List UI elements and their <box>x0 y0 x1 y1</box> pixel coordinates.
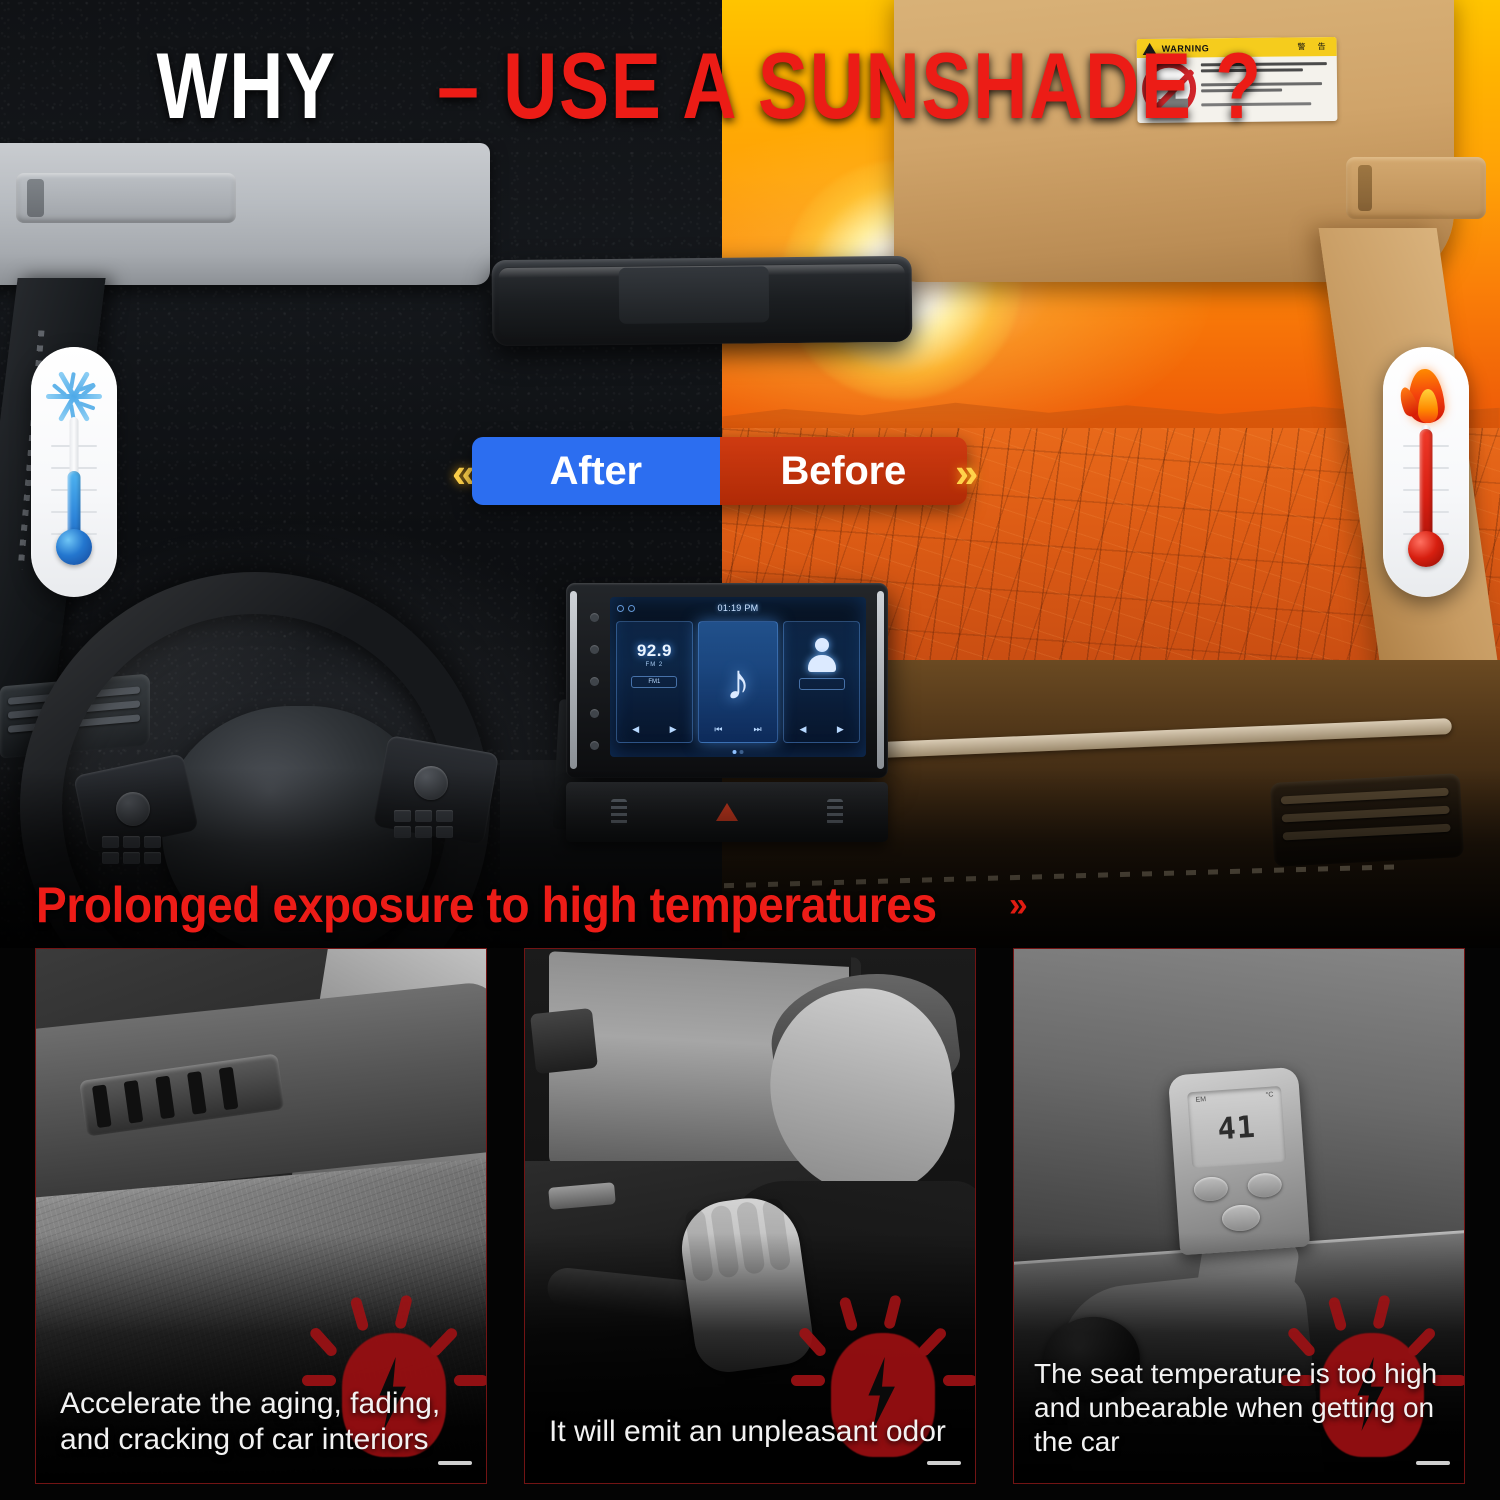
panel-interior-aging: Accelerate the aging, fading, and cracki… <box>35 948 487 1484</box>
screen-status-icons <box>617 605 635 612</box>
infotainment-screen[interactable]: 01:19 PM 92.9 FM 2 FM1 ◀ ▶ ♪ <box>610 597 866 757</box>
warning-label-text-lines <box>1201 60 1333 118</box>
child-seat-glyph <box>1158 82 1188 108</box>
phone-card[interactable]: ◀ ▶ <box>783 621 860 743</box>
panel-unpleasant-odor: It will emit an unpleasant odor <box>524 948 976 1484</box>
ir-thermometer-display: EM °C 41 <box>1187 1086 1286 1168</box>
head-unit-side-buttons[interactable] <box>583 601 605 761</box>
warning-label-header: WARNING 警 告 <box>1137 37 1337 58</box>
rearview-mirror-stem <box>196 84 222 106</box>
screen-status-bar: 01:19 PM <box>610 601 866 615</box>
radio-preset[interactable]: FM1 <box>631 676 677 688</box>
thermometer-bulb-hot <box>1408 531 1444 567</box>
panel-2-caption: It will emit an unpleasant odor <box>549 1414 959 1451</box>
radio-frequency: 92.9 <box>637 641 672 661</box>
before-after-badge: After Before <box>472 437 967 505</box>
rearview-mirror <box>492 256 913 346</box>
music-note-icon: ♪ <box>725 657 750 707</box>
benefit-panels-row: Accelerate the aging, fading, and cracki… <box>0 948 1500 1500</box>
ir-button-left[interactable] <box>1193 1176 1229 1202</box>
phone-prev-icon[interactable]: ◀ <box>799 724 806 735</box>
infotainment-head-unit: 01:19 PM 92.9 FM 2 FM1 ◀ ▶ ♪ <box>566 583 888 778</box>
screen-clock: 01:19 PM <box>718 603 759 613</box>
ir-display-mode-label: EM <box>1195 1096 1206 1104</box>
next-track-icon[interactable]: ⏭ <box>754 724 762 735</box>
thermometer-cool <box>31 347 117 597</box>
warning-triangle-icon <box>1143 42 1157 54</box>
radio-seek-controls[interactable]: ◀ ▶ <box>617 724 692 735</box>
screen-card-row: 92.9 FM 2 FM1 ◀ ▶ ♪ ⏮ ⏭ <box>616 621 860 743</box>
visor-pocket <box>16 173 236 223</box>
media-transport-controls[interactable]: ⏮ ⏭ <box>699 724 777 735</box>
previous-track-icon[interactable]: ⏮ <box>714 724 722 735</box>
before-badge-half[interactable]: Before <box>720 437 968 505</box>
bluetooth-icon <box>617 605 624 612</box>
media-card[interactable]: ♪ ⏮ ⏭ <box>698 621 778 743</box>
panel-3-ir-thermometer: EM °C 41 <box>1168 1067 1310 1256</box>
panel-3-dash-mark <box>1416 1461 1450 1465</box>
seek-next-icon[interactable]: ▶ <box>670 724 677 735</box>
radio-card[interactable]: 92.9 FM 2 FM1 ◀ ▶ <box>616 621 693 743</box>
subheadline-text: Prolonged exposure to high temperatures <box>36 876 937 934</box>
seek-prev-icon[interactable]: ◀ <box>632 724 639 735</box>
no-child-seat-icon <box>1142 61 1197 116</box>
chevron-right-icon: » <box>955 452 978 494</box>
warning-label-cjk-marks: 警 告 <box>1297 41 1330 52</box>
person-icon <box>807 638 837 672</box>
panel-2-dash-mark <box>927 1461 961 1465</box>
screen-page-dots[interactable] <box>733 750 744 754</box>
visor-warning-label: WARNING 警 告 <box>1137 37 1338 123</box>
radio-band: FM 2 <box>646 662 664 668</box>
before-label: Before <box>781 449 907 494</box>
mirror-reflection-seat <box>619 266 770 324</box>
hero-comparison-image: WARNING 警 告 <box>0 0 1500 948</box>
warning-heading: WARNING <box>1162 43 1210 53</box>
signal-icon <box>628 605 635 612</box>
panel-1-caption: Accelerate the aging, fading, and cracki… <box>60 1386 470 1459</box>
rearview-mirror-glass <box>499 263 906 337</box>
infographic-page: WARNING 警 告 <box>0 0 1500 1500</box>
panel-1-dash-mark <box>438 1461 472 1465</box>
thermometer-hot <box>1383 347 1469 597</box>
warning-label-body <box>1137 56 1338 123</box>
ir-display-unit-label: °C <box>1265 1091 1273 1099</box>
panel-2-side-mirror <box>530 1008 598 1074</box>
ir-button-right[interactable] <box>1247 1172 1283 1198</box>
flame-icon <box>1399 363 1453 423</box>
panel-seat-temperature: EM °C 41 The seat temperature is too hig… <box>1013 948 1465 1484</box>
ir-temperature-reading: 41 <box>1189 1108 1285 1149</box>
visor-pocket-right <box>1346 157 1486 219</box>
subheadline-chevrons-icon: ›› <box>1009 886 1024 925</box>
phone-action-button[interactable] <box>799 678 845 690</box>
thermometer-bulb-cool <box>56 529 92 565</box>
sun-visor-shaded <box>0 143 490 285</box>
phone-nav-controls[interactable]: ◀ ▶ <box>784 724 859 735</box>
panel-3-caption: The seat temperature is too high and unb… <box>1034 1357 1454 1459</box>
phone-next-icon[interactable]: ▶ <box>837 724 844 735</box>
subheadline: Prolonged exposure to high temperatures … <box>36 876 1024 934</box>
after-label: After <box>550 449 642 494</box>
heat-hazard-icon <box>795 1299 971 1484</box>
ir-button-center[interactable] <box>1221 1204 1261 1233</box>
after-badge-half[interactable]: After <box>472 437 720 505</box>
